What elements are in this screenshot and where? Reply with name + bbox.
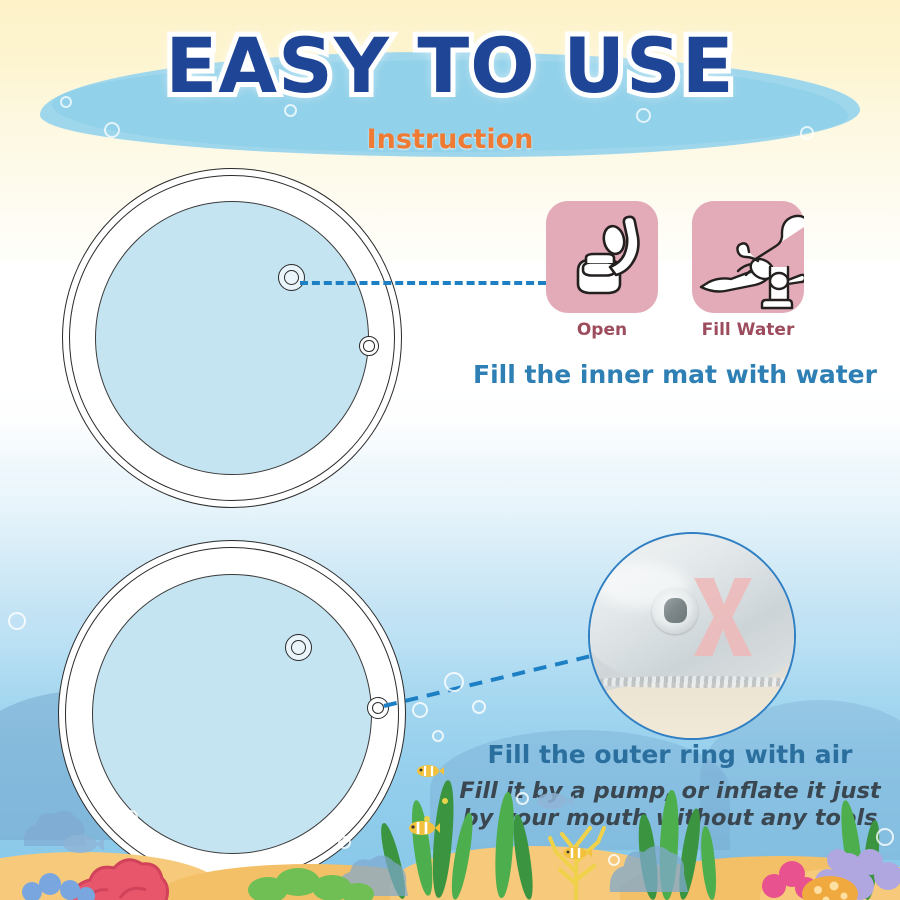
water-valve xyxy=(285,634,312,661)
bubble-icon xyxy=(124,810,138,824)
spotted-shell xyxy=(800,870,860,900)
bubble-icon xyxy=(472,700,486,714)
air-valve xyxy=(359,336,379,356)
step-caption-air: Fill the outer ring with air xyxy=(440,740,900,769)
photo-seam-line xyxy=(588,676,796,688)
card-fill-water[interactable] xyxy=(692,201,804,313)
clownfish xyxy=(414,762,444,780)
bubble-icon xyxy=(432,730,444,742)
valve-cap-open-icon xyxy=(546,201,658,313)
bubble-icon xyxy=(444,672,464,692)
card-fill-water-label: Fill Water xyxy=(678,320,818,340)
card-open[interactable] xyxy=(546,201,658,313)
photo-valve-nozzle xyxy=(664,598,687,623)
photo-sand-strip xyxy=(588,682,796,740)
blue-anemone xyxy=(18,866,98,900)
card-open-label: Open xyxy=(532,320,672,340)
page-subtitle: Instruction xyxy=(0,124,900,155)
faucet-fill-icon xyxy=(692,201,804,313)
wave-bubble-icon xyxy=(636,108,651,123)
green-soft-weed xyxy=(246,856,376,900)
bubble-icon xyxy=(876,828,894,846)
inflatable-water-mat-top xyxy=(62,168,402,508)
step-caption-water: Fill the inner mat with water xyxy=(450,360,900,389)
bubble-icon xyxy=(608,854,620,866)
water-valve xyxy=(278,264,305,291)
fish-silhouette xyxy=(534,790,574,812)
clownfish xyxy=(560,844,592,862)
bubble-icon xyxy=(516,792,529,805)
inflatable-water-mat-bottom xyxy=(58,540,406,888)
air-valve-closeup-photo xyxy=(588,532,796,740)
clownfish xyxy=(406,818,440,838)
mat-inner-water-area xyxy=(95,201,369,475)
fish-silhouette xyxy=(60,832,104,856)
instruction-poster: EASY TO USE Instruction Open xyxy=(0,0,900,900)
bubble-icon xyxy=(338,836,351,849)
bubble-icon xyxy=(412,702,428,718)
bubble-icon xyxy=(8,612,26,630)
seaweed-dot xyxy=(442,798,448,804)
page-title: EASY TO USE xyxy=(0,28,900,104)
connector-dashed-line-top xyxy=(300,281,546,285)
